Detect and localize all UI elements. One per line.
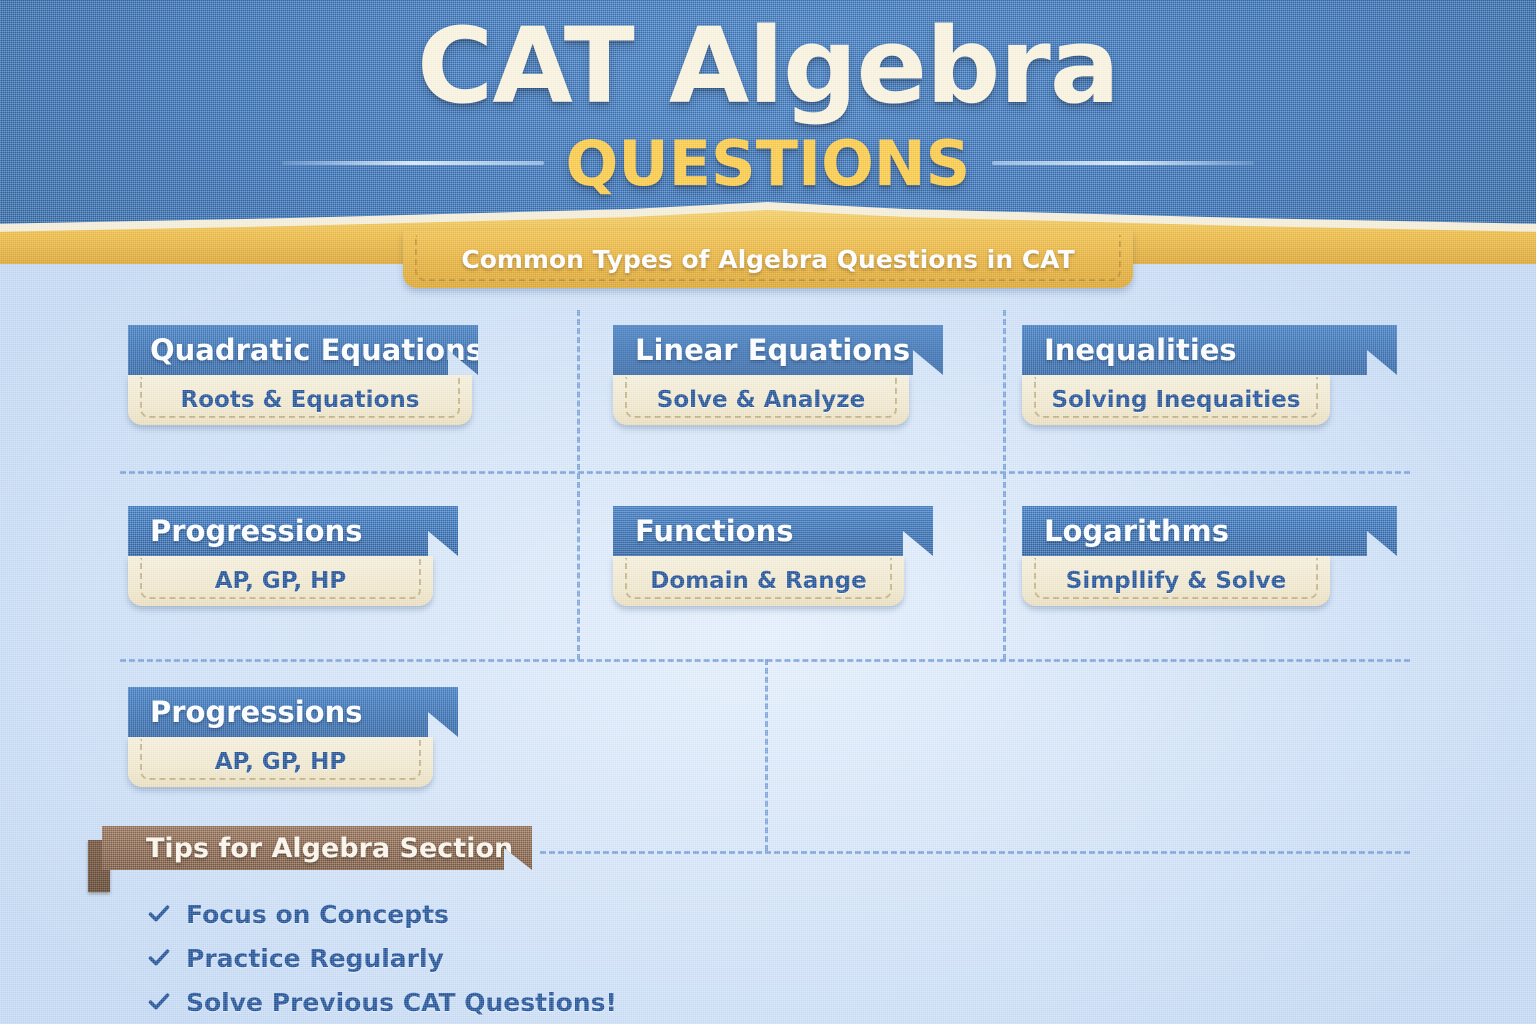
topic-card-functions[interactable]: Functions Domain & Range: [613, 506, 933, 606]
card-body: Solve & Analyze: [613, 375, 909, 425]
card-subtitle: Domain & Range: [650, 568, 866, 594]
connector-hline-1: [120, 471, 1410, 474]
card-ribbon: Linear Equations: [613, 325, 943, 375]
card-body: Solving Inequaities: [1022, 375, 1330, 425]
card-ribbon: Quadratic Equations: [128, 325, 478, 375]
check-icon: [148, 903, 170, 925]
card-subtitle: AP, GP, HP: [215, 568, 347, 594]
infographic-page: CAT Algebra QUESTIONS Common Types of Al…: [0, 0, 1536, 1024]
card-ribbon: Progressions: [128, 506, 458, 556]
tip-label: Practice Regularly: [186, 944, 444, 973]
card-title: Functions: [613, 514, 793, 548]
tips-list: Focus on Concepts Practice Regularly Sol…: [148, 892, 617, 1024]
list-item: Practice Regularly: [148, 936, 617, 980]
card-title: Progressions: [128, 514, 363, 548]
card-subtitle: AP, GP, HP: [215, 749, 347, 775]
card-body: Roots & Equations: [128, 375, 472, 425]
connector-vline-right-upper: [1003, 310, 1006, 660]
tips-banner: Tips for Algebra Section: [88, 826, 532, 870]
card-subtitle: Solving Inequaities: [1052, 387, 1301, 413]
topic-card-linear-equations[interactable]: Linear Equations Solve & Analyze: [613, 325, 943, 425]
tips-heading: Tips for Algebra Section: [102, 833, 513, 864]
card-body: AP, GP, HP: [128, 737, 433, 787]
card-ribbon: Logarithms: [1022, 506, 1397, 556]
topic-card-quadratic-equations[interactable]: Quadratic Equations Roots & Equations: [128, 325, 478, 425]
list-item: Solve Previous CAT Questions!: [148, 980, 617, 1024]
card-title: Progressions: [128, 695, 363, 729]
card-body: AP, GP, HP: [128, 556, 433, 606]
list-item: Focus on Concepts: [148, 892, 617, 936]
card-ribbon: Progressions: [128, 687, 458, 737]
tip-label: Solve Previous CAT Questions!: [186, 988, 617, 1017]
check-icon: [148, 947, 170, 969]
card-body: Simpllify & Solve: [1022, 556, 1330, 606]
connector-hline-3: [540, 851, 1410, 854]
card-ribbon: Functions: [613, 506, 933, 556]
connector-vline-center-lower: [765, 659, 768, 851]
card-subtitle: Roots & Equations: [181, 387, 420, 413]
topic-card-progressions-2[interactable]: Progressions AP, GP, HP: [128, 687, 458, 787]
section-banner-label: Common Types of Algebra Questions in CAT: [461, 245, 1074, 274]
card-subtitle: Simpllify & Solve: [1066, 568, 1286, 594]
section-banner: Common Types of Algebra Questions in CAT: [403, 230, 1133, 288]
card-title: Linear Equations: [613, 333, 910, 367]
card-title: Logarithms: [1022, 514, 1229, 548]
card-title: Quadratic Equations: [128, 333, 483, 367]
check-icon: [148, 991, 170, 1013]
topic-card-inequalities[interactable]: Inequalities Solving Inequaities: [1022, 325, 1397, 425]
topic-card-logarithms[interactable]: Logarithms Simpllify & Solve: [1022, 506, 1397, 606]
tip-label: Focus on Concepts: [186, 900, 449, 929]
connector-vline-left-upper: [577, 310, 580, 660]
tips-ribbon: Tips for Algebra Section: [102, 826, 532, 870]
card-subtitle: Solve & Analyze: [657, 387, 865, 413]
card-body: Domain & Range: [613, 556, 904, 606]
card-title: Inequalities: [1022, 333, 1237, 367]
topic-card-progressions[interactable]: Progressions AP, GP, HP: [128, 506, 458, 606]
card-ribbon: Inequalities: [1022, 325, 1397, 375]
